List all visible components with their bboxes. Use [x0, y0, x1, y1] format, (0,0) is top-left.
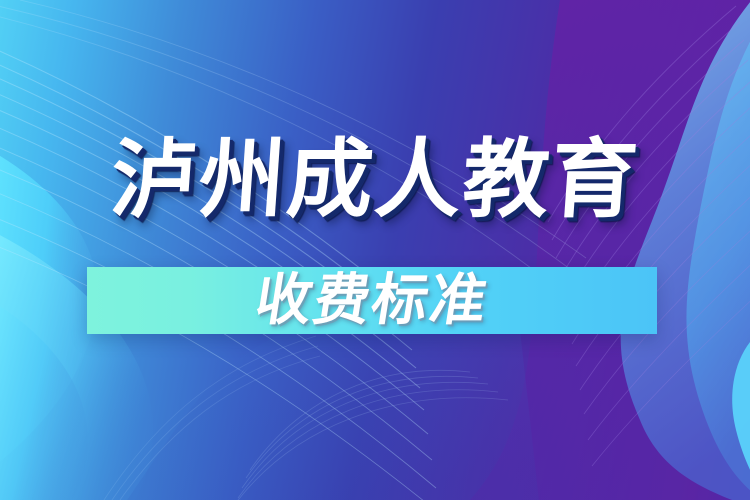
mid-ribbon-shape	[120, 311, 540, 500]
right-ribbon-shape	[621, 0, 750, 500]
right-cyan-accent-shape	[732, 330, 750, 492]
line-texture-center-arcs	[232, 370, 508, 500]
vignette-placeholder	[0, 0, 750, 500]
bottom-left-swoosh-shape	[0, 300, 88, 500]
right-ribbon-shape-2	[686, 20, 750, 500]
main-title: 泸州成人教育	[108, 132, 643, 228]
subtitle-text: 收费标准	[82, 271, 662, 331]
purple-wash-shape	[470, 0, 750, 500]
headline-block: 泸州成人教育	[0, 132, 750, 228]
line-texture-lower-left-hatch	[104, 336, 320, 500]
subtitle-bar: 收费标准	[87, 267, 657, 334]
background-waves	[0, 0, 750, 500]
line-texture-right-fan	[548, 6, 750, 466]
promo-banner: 泸州成人教育 收费标准	[0, 0, 750, 500]
